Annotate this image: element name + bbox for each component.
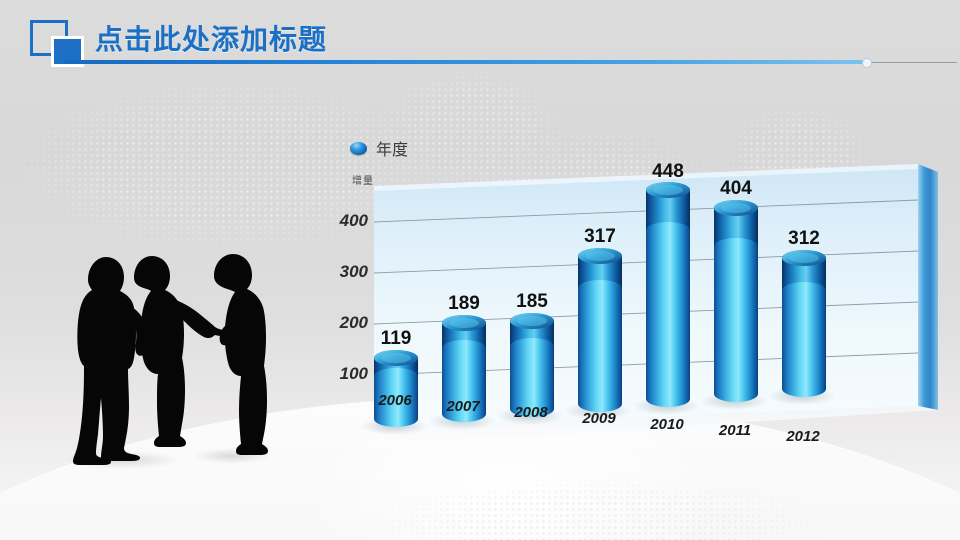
bar-label-2008: 185 — [504, 291, 560, 313]
chart-plot-area — [330, 158, 950, 458]
y-tick-400: 400 — [322, 211, 368, 231]
slide-header: 点击此处添加标题 — [0, 0, 960, 78]
bar-label-2009: 317 — [572, 226, 628, 248]
header-divider-node — [862, 58, 872, 68]
bar-label-2012: 312 — [776, 228, 832, 250]
silhouette-woman-right — [214, 254, 268, 455]
x-tick-2008: 2008 — [502, 404, 560, 421]
bar-label-2007: 189 — [436, 293, 492, 315]
y-tick-300: 300 — [322, 262, 368, 282]
silhouette-woman-pointing — [134, 256, 186, 447]
silhouette-svg — [52, 248, 302, 470]
x-tick-2009: 2009 — [570, 410, 628, 427]
y-tick-200: 200 — [322, 313, 368, 333]
header-divider-blue — [64, 60, 866, 64]
chart-legend: 年度 — [350, 136, 408, 160]
x-tick-2007: 2007 — [434, 398, 492, 415]
y-tick-100: 100 — [322, 364, 368, 384]
legend-marker-icon — [350, 142, 367, 155]
bar-label-2011: 404 — [708, 178, 764, 200]
page-title: 点击此处添加标题 — [95, 18, 327, 58]
slide-canvas: 点击此处添加标题 — [0, 0, 960, 540]
bar-label-2006: 119 — [368, 328, 424, 350]
x-tick-2011: 2011 — [706, 422, 764, 439]
bar-chart: 年度 增量 — [330, 128, 950, 458]
x-tick-2010: 2010 — [638, 416, 696, 433]
business-people-silhouette — [52, 248, 302, 470]
silhouette-man — [73, 257, 140, 465]
legend-label-0: 年度 — [376, 136, 408, 160]
x-tick-2012: 2012 — [774, 428, 832, 445]
x-tick-2006: 2006 — [366, 392, 424, 409]
bar-label-2010: 448 — [640, 161, 696, 183]
